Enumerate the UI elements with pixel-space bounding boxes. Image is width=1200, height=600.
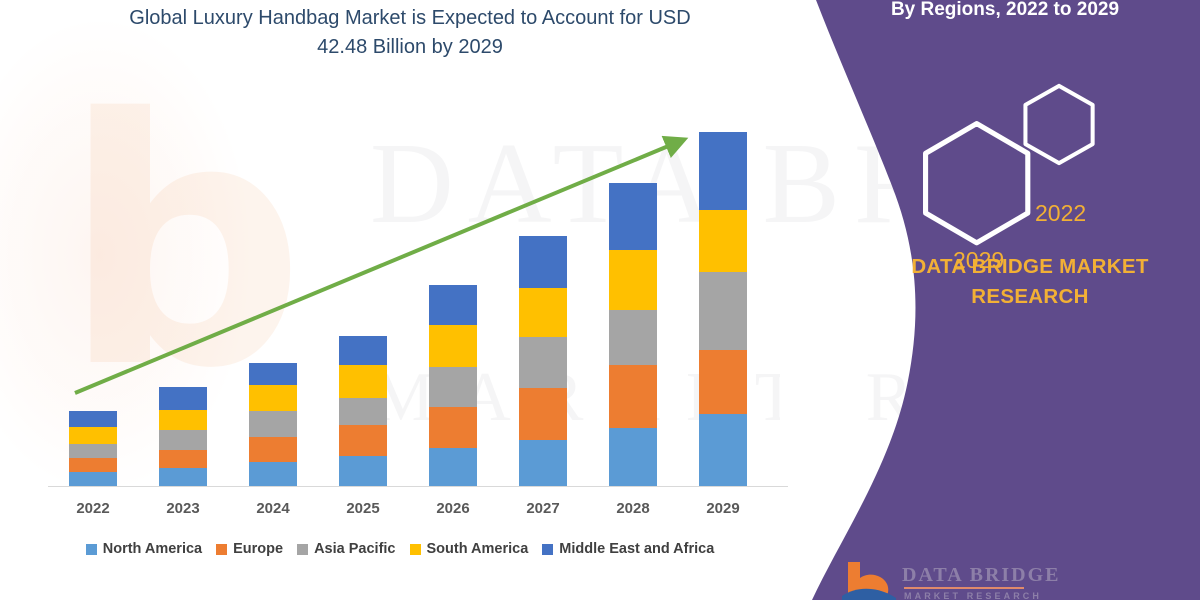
bar-2029[interactable] [699,132,747,486]
bar-2026[interactable] [429,285,477,486]
bar-segment-asia-pacific [429,367,477,407]
bar-segment-south-america [249,385,297,411]
bar-2028[interactable] [609,183,657,486]
x-axis-label-2029: 2029 [688,500,758,517]
bar-segment-north-america [159,468,207,486]
bar-segment-asia-pacific [519,337,567,388]
bar-segment-asia-pacific [159,430,207,450]
x-axis-label-2027: 2027 [508,500,578,517]
logo-divider [904,587,1024,589]
bar-segment-middle-east-and-africa [699,132,747,210]
bar-segment-north-america [69,472,117,486]
bar-segment-europe [609,365,657,428]
legend-label: Asia Pacific [314,541,395,557]
bar-2025[interactable] [339,336,387,486]
bar-segment-asia-pacific [339,398,387,425]
x-axis-label-2026: 2026 [418,500,488,517]
bar-segment-middle-east-and-africa [249,363,297,385]
bar-segment-south-america [429,325,477,367]
legend-swatch-icon [86,544,97,555]
bar-2024[interactable] [249,363,297,486]
bar-segment-europe [339,425,387,456]
bar-segment-south-america [609,250,657,310]
chart-legend: North America Europe Asia Pacific South … [0,541,800,557]
bar-segment-middle-east-and-africa [429,285,477,325]
bar-segment-north-america [519,440,567,486]
bar-segment-north-america [339,456,387,486]
bar-segment-south-america [699,210,747,272]
legend-item-europe[interactable]: Europe [216,541,283,557]
bar-segment-middle-east-and-africa [159,387,207,410]
bar-segment-europe [699,350,747,414]
bar-segment-middle-east-and-africa [609,183,657,250]
legend-item-middle-east-and-africa[interactable]: Middle East and Africa [542,541,714,557]
brand-name: DATA BRIDGE MARKET RESEARCH [880,252,1180,312]
bar-segment-north-america [249,462,297,486]
panel-heading: By Regions, 2022 to 2029 [840,0,1170,22]
logo-text: DATA BRIDGE [902,564,1061,587]
bar-segment-europe [429,407,477,448]
bar-segment-south-america [69,427,117,444]
bar-segment-asia-pacific [609,310,657,365]
legend-label: South America [427,541,529,557]
hexagon-group: 2029 2022 [900,80,1130,250]
x-axis-line [48,486,788,487]
bar-segment-north-america [609,428,657,486]
legend-item-north-america[interactable]: North America [86,541,202,557]
legend-swatch-icon [542,544,553,555]
bar-segment-north-america [699,414,747,486]
bar-segment-middle-east-and-africa [69,411,117,427]
bar-segment-asia-pacific [699,272,747,350]
bar-segment-europe [159,450,207,468]
bar-segment-asia-pacific [69,444,117,458]
x-axis-label-2028: 2028 [598,500,668,517]
legend-swatch-icon [410,544,421,555]
legend-swatch-icon [216,544,227,555]
infographic-canvas: b DATA BRIDGE MARKET RESEARCH Global Lux… [0,0,1200,600]
bar-2027[interactable] [519,236,567,486]
bar-2022[interactable] [69,411,117,486]
bar-segment-south-america [339,365,387,398]
legend-label: Europe [233,541,283,557]
x-axis-label-2022: 2022 [58,500,128,517]
legend-item-south-america[interactable]: South America [410,541,529,557]
stacked-bar-chart: 2022 2023 2024 2025 2026 2027 2028 2029 … [0,0,800,600]
bar-segment-asia-pacific [249,411,297,437]
x-axis-label-2024: 2024 [238,500,308,517]
hexagon-2022-icon [1025,86,1092,163]
bar-segment-europe [519,388,567,440]
bar-segment-europe [69,458,117,472]
x-axis-label-2023: 2023 [148,500,218,517]
bar-segment-middle-east-and-africa [519,236,567,288]
bar-segment-south-america [519,288,567,337]
hexagon-2022-label: 2022 [1035,200,1086,227]
legend-swatch-icon [297,544,308,555]
bar-segment-europe [249,437,297,462]
data-bridge-logo: DATA BRIDGE MARKET RESEARCH [838,558,1088,600]
legend-item-asia-pacific[interactable]: Asia Pacific [297,541,395,557]
legend-label: North America [103,541,202,557]
bar-segment-north-america [429,448,477,486]
logo-subtext: MARKET RESEARCH [904,591,1042,600]
legend-label: Middle East and Africa [559,541,714,557]
bar-segment-middle-east-and-africa [339,336,387,365]
bar-2023[interactable] [159,387,207,486]
hexagon-2029-icon [926,124,1028,243]
x-axis-label-2025: 2025 [328,500,398,517]
bar-segment-south-america [159,410,207,430]
